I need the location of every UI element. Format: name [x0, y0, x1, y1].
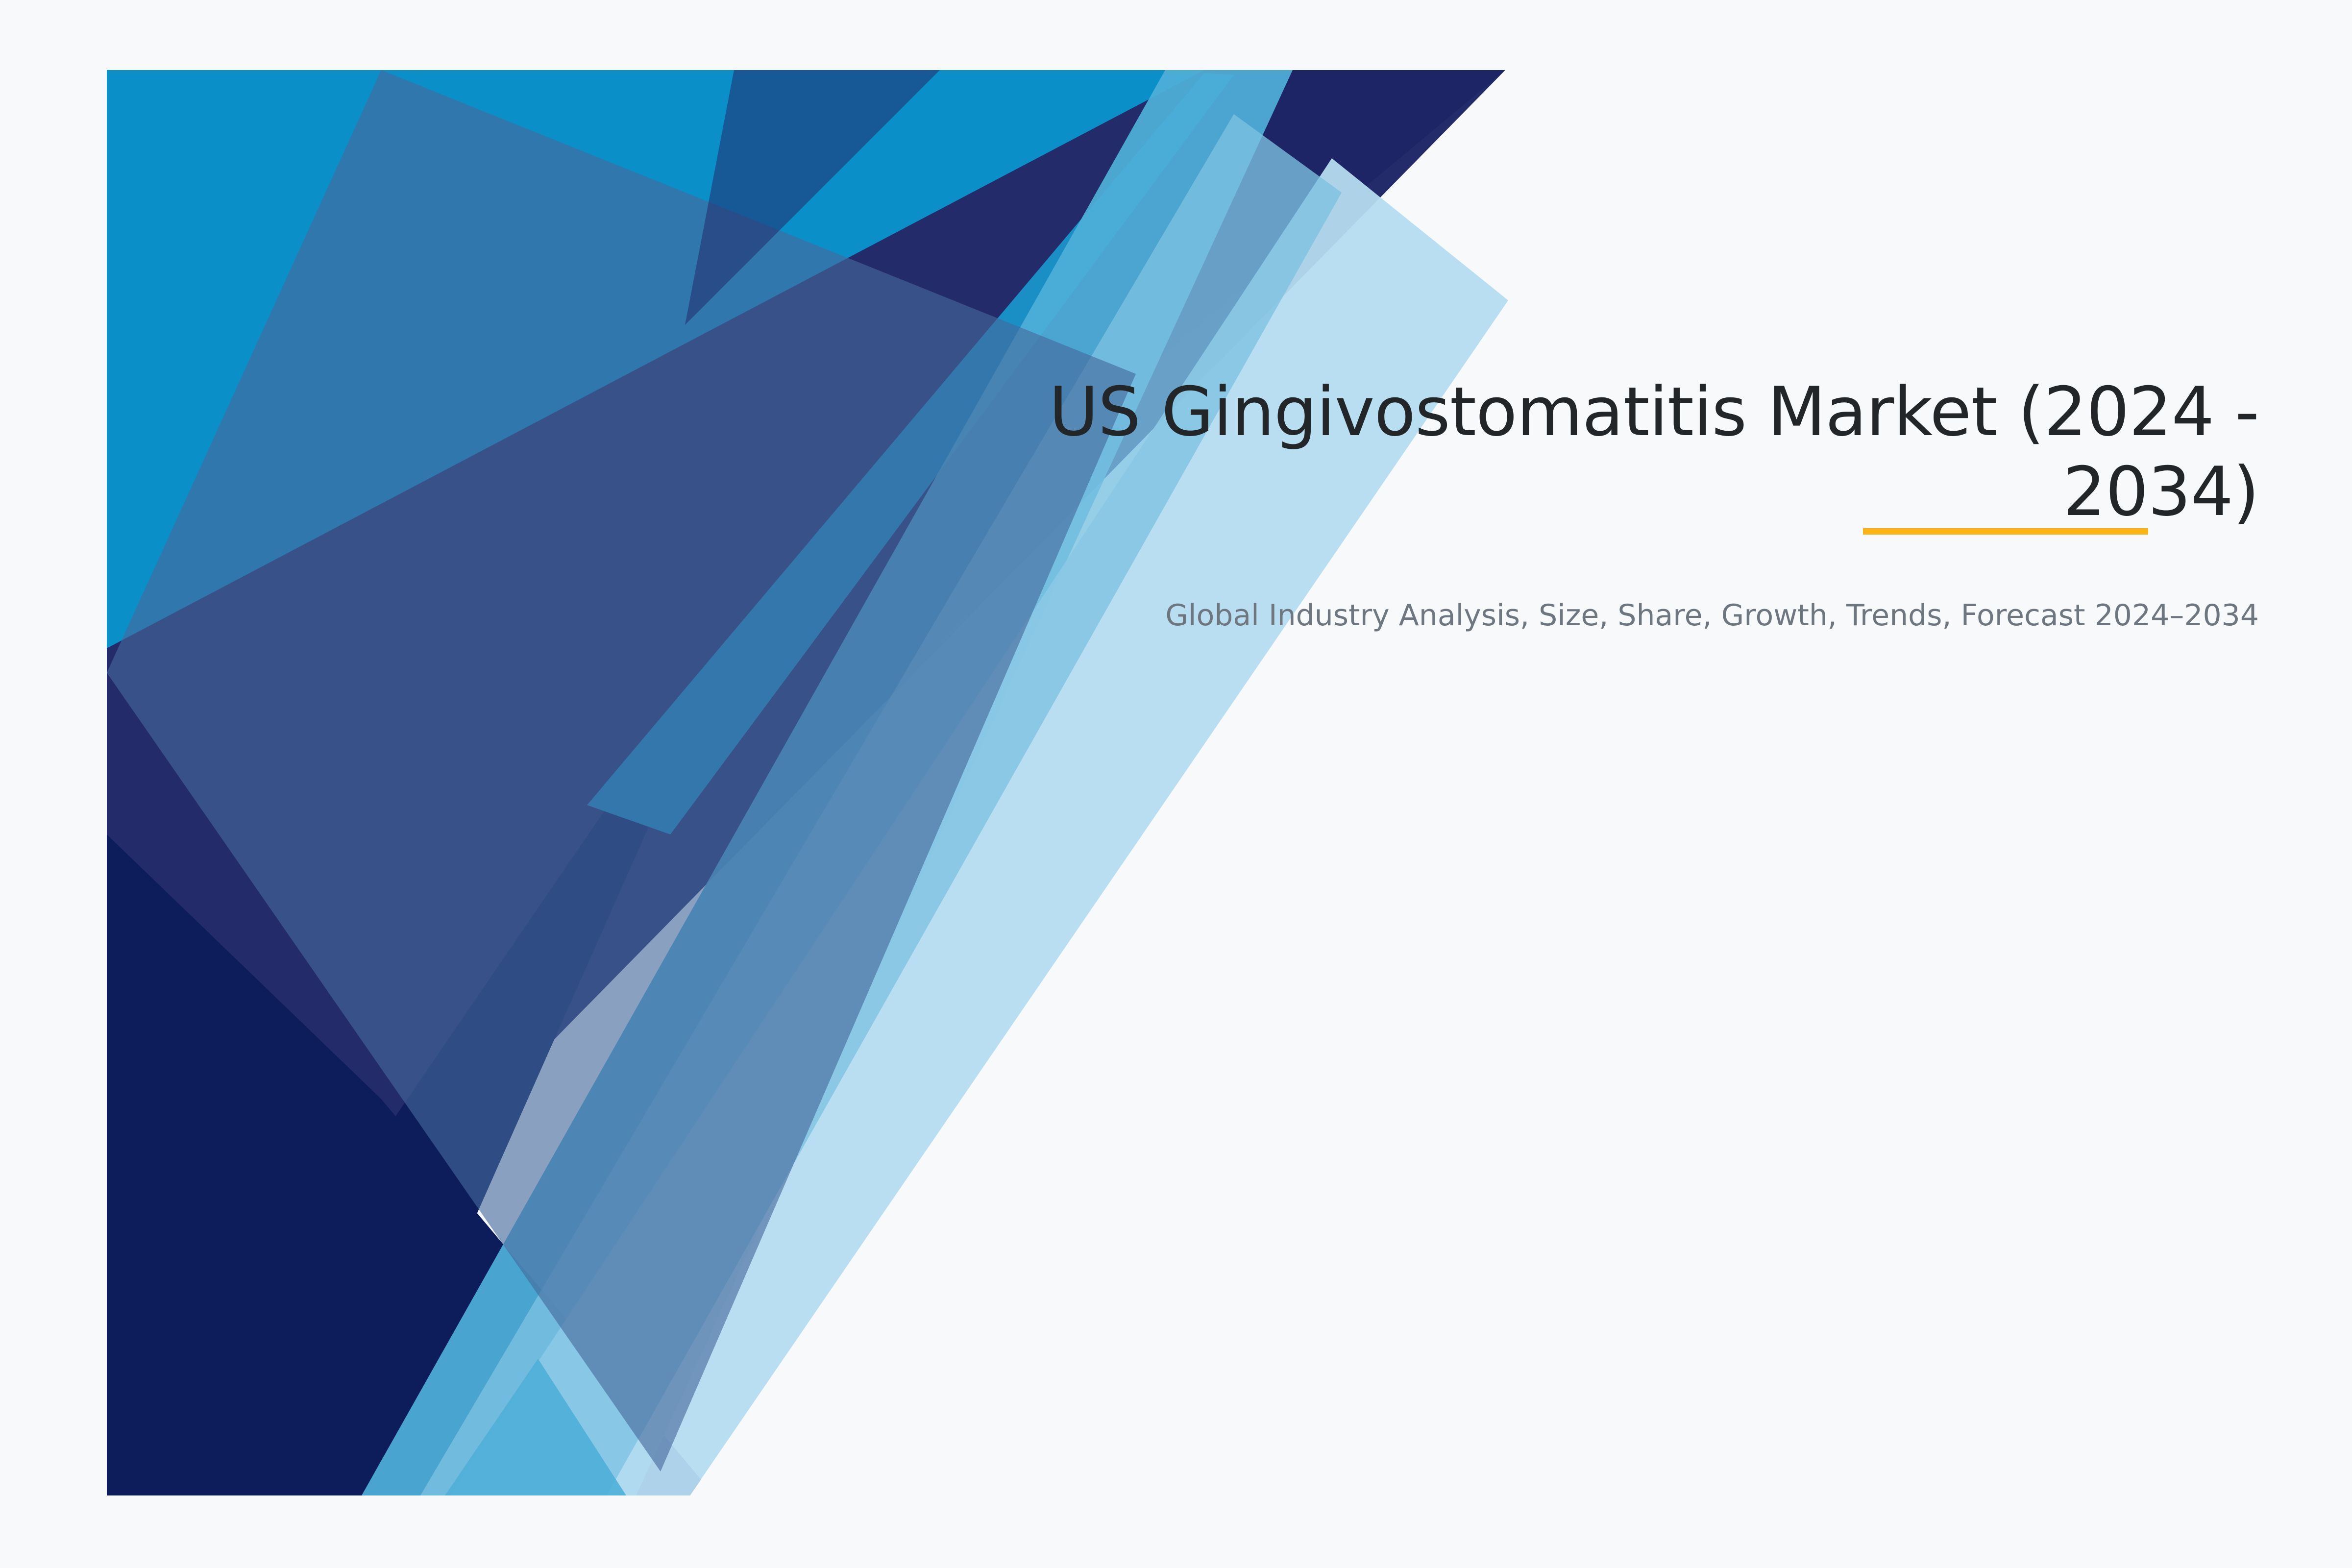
abstract-angular-graphic — [107, 70, 1508, 1495]
page-title: US Gingivostomatitis Market (2024 - 2034… — [892, 372, 2259, 532]
page-subtitle: Global Industry Analysis, Size, Share, G… — [892, 532, 2259, 637]
cover-text-block: US Gingivostomatitis Market (2024 - 2034… — [892, 372, 2259, 637]
cover-artwork — [107, 70, 1508, 1495]
title-accent-underline — [1863, 528, 2148, 535]
report-cover-slide: US Gingivostomatitis Market (2024 - 2034… — [0, 0, 2352, 1568]
